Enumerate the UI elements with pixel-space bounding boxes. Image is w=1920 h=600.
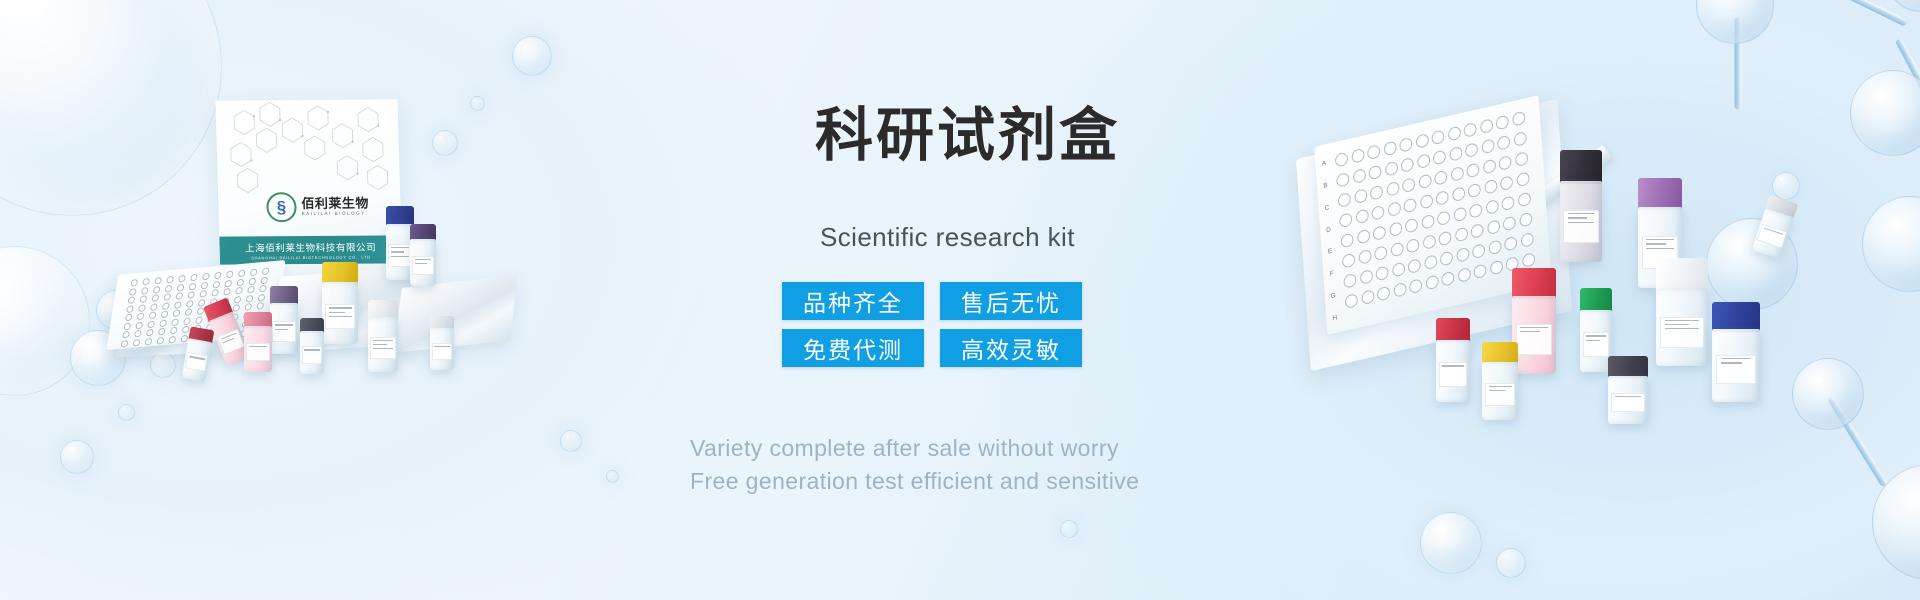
page-subtitle: Scientific research kit <box>820 222 1140 253</box>
feature-badge[interactable]: 免费代测 <box>782 329 924 367</box>
tagline-block: Variety complete after sale without worr… <box>690 432 1250 497</box>
banner-copy: 科研试剂盒 Scientific research kit 品种齐全售后无忧免费… <box>0 0 1920 600</box>
feature-badge-list: 品种齐全售后无忧免费代测高效灵敏 <box>782 282 1082 367</box>
feature-badge[interactable]: 高效灵敏 <box>940 329 1082 367</box>
feature-badge[interactable]: 品种齐全 <box>782 282 924 320</box>
promo-banner: § 佰利莱生物 BAILILAI BIOLOGY 上海佰利莱生物科技有限公司 S… <box>0 0 1920 600</box>
tagline-line: Variety complete after sale without worr… <box>690 432 1250 465</box>
tagline-line: Free generation test efficient and sensi… <box>690 465 1250 498</box>
feature-badge[interactable]: 售后无忧 <box>940 282 1082 320</box>
page-title: 科研试剂盒 <box>815 104 1135 167</box>
